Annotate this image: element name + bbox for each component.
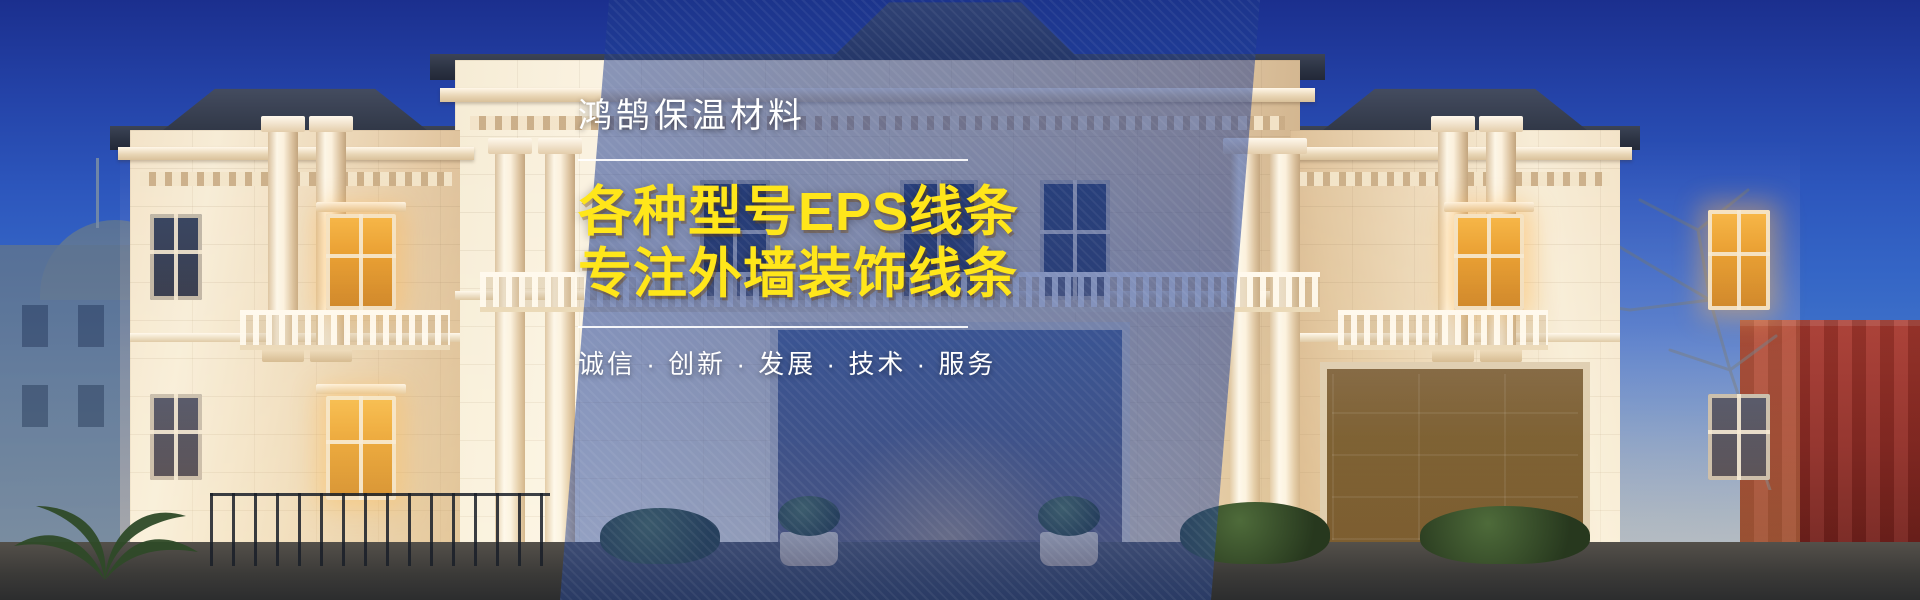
shrub-2	[1180, 502, 1330, 564]
tagline: 诚信 · 创新 · 发展 · 技术 · 服务	[578, 348, 1008, 382]
column-2	[545, 152, 575, 552]
planter-right	[1040, 532, 1098, 566]
window-hood-l1	[316, 202, 406, 212]
column-1	[495, 152, 525, 552]
brand-name: 鸿鹄保温材料	[578, 96, 1008, 137]
column-3	[1230, 152, 1260, 552]
window-right-side-upper	[1708, 210, 1770, 310]
window-right-side-lower	[1708, 394, 1770, 480]
divider-top	[578, 159, 968, 161]
shrub-1	[600, 508, 720, 564]
entrance-glow	[830, 420, 1070, 540]
garden-fence	[210, 493, 550, 566]
planter-shrub-right	[1038, 496, 1100, 536]
banner-content: 鸿鹄保温材料 各种型号EPS线条 专注外墙装饰线条 诚信 · 创新 · 发展 ·…	[578, 96, 1008, 382]
balcony-rail-left	[240, 310, 450, 350]
hero-banner: 鸿鹄保温材料 各种型号EPS线条 专注外墙装饰线条 诚信 · 创新 · 发展 ·…	[0, 0, 1920, 600]
window-left-upper	[326, 214, 396, 310]
window-hood-l2	[316, 384, 406, 394]
divider-bottom	[578, 326, 968, 328]
headline-line-2: 专注外墙装饰线条	[578, 243, 1008, 306]
palm-plant-icon	[10, 450, 200, 580]
window-left-lower	[326, 396, 396, 500]
column-4	[1270, 152, 1300, 552]
balcony-rail-right	[1338, 310, 1548, 350]
window-right-upper	[1454, 214, 1524, 310]
planter-left	[780, 532, 838, 566]
shrub-3	[1420, 506, 1590, 564]
window-hood-r1	[1444, 202, 1534, 212]
headline-line-1: 各种型号EPS线条	[578, 181, 1008, 244]
planter-shrub-left	[778, 496, 840, 536]
window-left-side-upper	[150, 214, 202, 300]
